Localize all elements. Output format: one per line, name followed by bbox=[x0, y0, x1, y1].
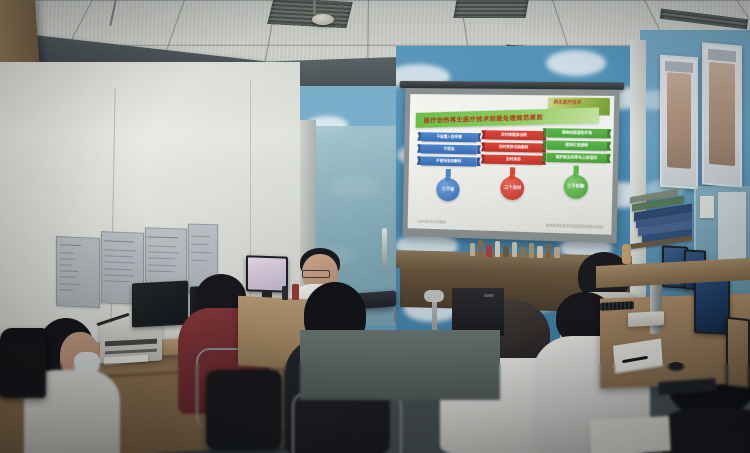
slide-column-blue: 不留置入性导管 不浸泡 不使用泡沫敷料 三不留 bbox=[420, 132, 477, 202]
posted-sheet-right-1 bbox=[700, 196, 714, 218]
chair-nurse[interactable] bbox=[0, 328, 46, 398]
bottle-4 bbox=[495, 241, 500, 257]
slide-column-red: 及时清理渗出物 及时更换污染敷料 及时换药 三个及时 bbox=[484, 130, 543, 201]
slide-band-green-2: 保持引流通畅 bbox=[546, 141, 607, 151]
anatomy-poster-2 bbox=[702, 42, 742, 187]
slide-band-red-1: 及时清理渗出物 bbox=[485, 130, 542, 140]
bottle-1 bbox=[470, 243, 475, 256]
chair-center-backrest[interactable] bbox=[292, 392, 402, 453]
slide-band-red-2: 及时更换污染敷料 bbox=[485, 142, 542, 152]
ceiling-air-vent-1 bbox=[267, 0, 352, 28]
anatomy-poster-1 bbox=[660, 55, 698, 190]
slide-band-red-3: 及时换药 bbox=[485, 154, 542, 164]
front-right-body bbox=[662, 408, 750, 453]
bottle-8 bbox=[529, 243, 534, 258]
bottle-3 bbox=[486, 245, 492, 257]
floor bbox=[300, 330, 500, 400]
cabinet-handle[interactable] bbox=[484, 294, 494, 297]
room-photo-scene: 再生医疗技术 医疗创伤再生医疗技术创面处理规范原则 不留置入性导管 不浸泡 不使… bbox=[0, 0, 750, 453]
slide-footer-left: 2024年9月10日制作 bbox=[418, 218, 447, 224]
equipment-head bbox=[424, 290, 444, 302]
desktop-device-right bbox=[628, 311, 664, 327]
slide-column-green: 保持创面湿性环境 保持引流通畅 保护新生肉芽与上皮组织 三不积聚 bbox=[545, 128, 607, 199]
door-handle[interactable] bbox=[382, 228, 387, 268]
bottle-5 bbox=[503, 246, 509, 257]
slide-band-blue-3: 不使用泡沫敷料 bbox=[421, 156, 477, 166]
bottle-6 bbox=[512, 242, 517, 257]
smoke-detector bbox=[312, 14, 334, 25]
cabinet-dark-center bbox=[452, 288, 504, 336]
bottle-right-rear bbox=[622, 244, 631, 264]
bottle-10 bbox=[546, 244, 551, 258]
chair-maroon-seat[interactable] bbox=[206, 370, 282, 450]
slide-band-green-1: 保持创面湿性环境 bbox=[547, 128, 608, 138]
slide-title-text: 医疗创伤再生医疗技术创面处理规范原则 bbox=[416, 112, 544, 125]
slide-arrow-blue bbox=[444, 168, 453, 176]
projector-hanger-rod bbox=[313, 0, 316, 15]
slide-footer-right: 烧伤科再生医学创面规范处理技术培训 bbox=[546, 222, 603, 229]
projection-screen: 再生医疗技术 医疗创伤再生医疗技术创面处理规范原则 不留置入性导管 不浸泡 不使… bbox=[402, 88, 619, 243]
paper-notes-bottom bbox=[589, 416, 671, 453]
monitor-right-4 bbox=[726, 317, 750, 390]
bottle-9 bbox=[537, 246, 543, 258]
presenter-glasses-icon bbox=[302, 270, 330, 278]
slide-title-banner: 医疗创伤再生医疗技术创面处理规范原则 bbox=[416, 107, 600, 127]
bottle-2 bbox=[478, 240, 483, 256]
slide-band-blue-1: 不留置入性导管 bbox=[421, 132, 477, 142]
presentation-slide: 再生医疗技术 医疗创伤再生医疗技术创面处理规范原则 不留置入性导管 不浸泡 不使… bbox=[408, 94, 615, 235]
slide-arrow-red bbox=[508, 167, 517, 175]
ceiling-air-vent-2 bbox=[453, 0, 528, 18]
slide-band-green-3: 保护新生肉芽与上皮组织 bbox=[546, 153, 607, 163]
mouse-right[interactable] bbox=[668, 362, 684, 371]
slide-band-blue-2: 不浸泡 bbox=[421, 144, 477, 154]
bottle-7 bbox=[520, 247, 526, 258]
slide-deco-text: 再生医疗技术 bbox=[547, 97, 610, 106]
wall-notice-1 bbox=[56, 236, 100, 308]
slide-arrow-green bbox=[571, 166, 581, 174]
